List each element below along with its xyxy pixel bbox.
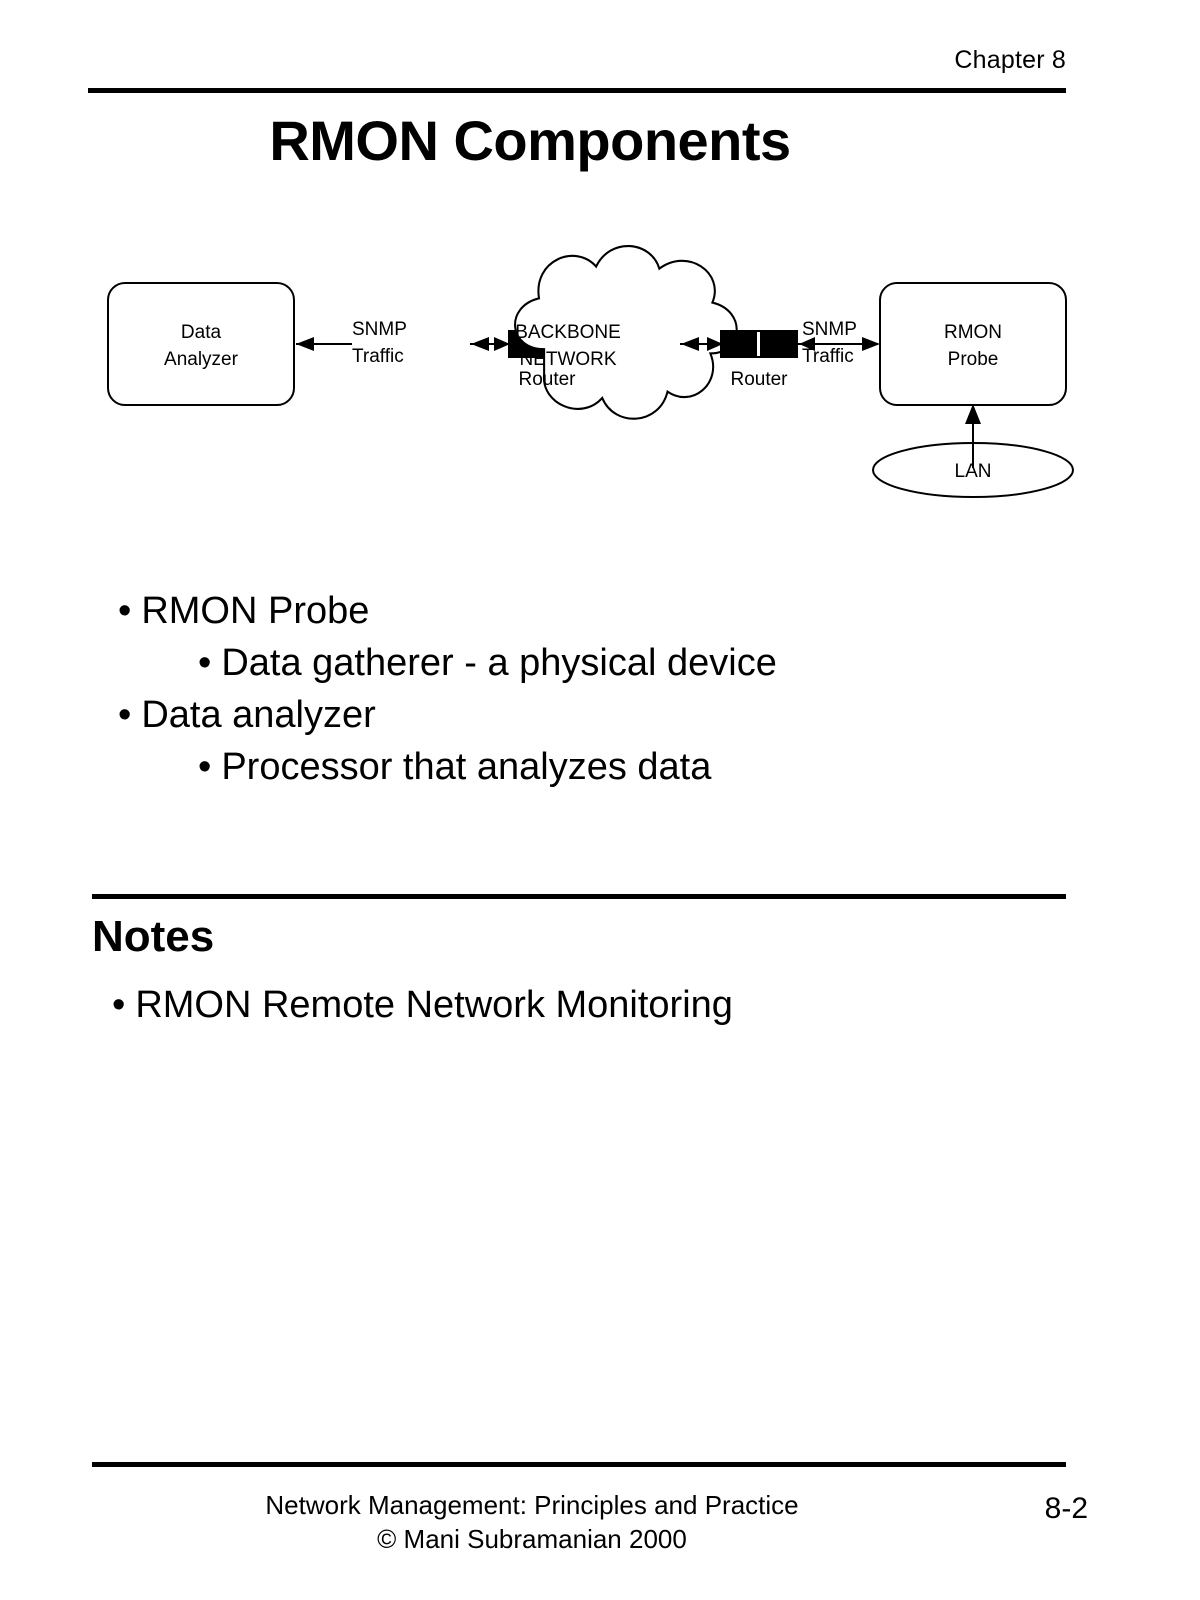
snmp-traffic-right-line1: SNMP: [802, 319, 857, 340]
bullet-item: •Processor that analyzes data: [118, 741, 1068, 793]
rmon-probe-label-line1: RMON: [944, 322, 1002, 343]
bullet-list: •RMON Probe •Data gatherer - a physical …: [118, 585, 1068, 793]
snmp-traffic-left-line1: SNMP: [352, 319, 407, 340]
data-analyzer-label-line1: Data: [181, 322, 222, 343]
notes-item: •RMON Remote Network Monitoring: [112, 980, 1062, 1030]
link-analyzer-to-router-left: [296, 337, 352, 351]
chapter-label: Chapter 8: [954, 46, 1066, 75]
rmon-components-diagram: Data Analyzer SNMP Traffic Router BACKBO…: [90, 240, 1080, 510]
page-number: 8-2: [1045, 1492, 1088, 1526]
slide-page: Chapter 8 RMON Components: [0, 0, 1200, 1600]
snmp-traffic-right-line2: Traffic: [802, 346, 854, 367]
lan-node: [873, 404, 1073, 497]
backbone-label-line1: BACKBONE: [515, 322, 621, 343]
bullet-item: •Data gatherer - a physical device: [118, 637, 1068, 689]
bullet-dot-icon: •: [118, 585, 131, 637]
lan-label: LAN: [955, 461, 992, 482]
footer-attribution: Network Management: Principles and Pract…: [92, 1488, 972, 1556]
bullet-dot-icon: •: [118, 689, 131, 741]
page-title: RMON Components: [0, 108, 1060, 173]
bullet-dot-icon: •: [112, 980, 125, 1030]
bullet-item: •Data analyzer: [118, 689, 1068, 741]
notes-item-text: RMON Remote Network Monitoring: [135, 984, 733, 1026]
rmon-probe-label-line2: Probe: [948, 349, 999, 370]
notes-heading: Notes: [92, 912, 214, 962]
footer-divider: [92, 1462, 1066, 1467]
bullet-dot-icon: •: [198, 741, 211, 793]
bullet-dot-icon: •: [198, 637, 211, 689]
footer-line-1: Network Management: Principles and Pract…: [92, 1488, 972, 1522]
rmon-probe-node: [880, 283, 1066, 405]
bullet-item: •RMON Probe: [118, 585, 1068, 637]
backbone-label-line2: NETWORK: [519, 349, 616, 370]
notes-list: •RMON Remote Network Monitoring: [112, 980, 1062, 1030]
data-analyzer-label-line2: Analyzer: [164, 349, 239, 370]
bullet-text: RMON Probe: [141, 590, 369, 632]
data-analyzer-node: [108, 283, 294, 405]
router-left-label: Router: [518, 369, 576, 390]
footer-line-2: © Mani Subramanian 2000: [92, 1522, 972, 1556]
notes-divider: [92, 894, 1066, 899]
bullet-text: Processor that analyzes data: [221, 746, 711, 788]
router-right-label: Router: [730, 369, 788, 390]
bullet-text: Data gatherer - a physical device: [221, 642, 777, 684]
snmp-traffic-left-line2: Traffic: [352, 346, 404, 367]
header-divider: [88, 88, 1066, 93]
bullet-text: Data analyzer: [141, 694, 375, 736]
